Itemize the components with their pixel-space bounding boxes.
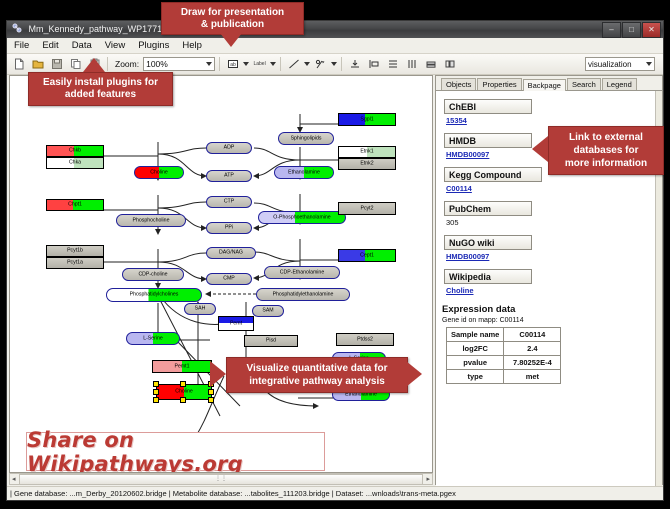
kegg-link[interactable]: C00114: [446, 184, 654, 193]
node-label: Choline: [157, 389, 211, 394]
callout-draw-line2: & publication: [181, 19, 284, 31]
zoom-value: 100%: [146, 59, 168, 69]
callout-quant-left-arrow-icon: [210, 361, 226, 387]
node-label: SAM: [253, 308, 283, 313]
callout-links-line3: more information: [565, 157, 647, 170]
stack-icon[interactable]: [422, 56, 439, 73]
gene-box-etnk1[interactable]: Etnk1: [338, 146, 396, 158]
gene-label: Etnk2: [339, 161, 395, 166]
label-dropdown[interactable]: [270, 62, 276, 66]
row-label: log2FC: [447, 342, 504, 356]
callout-draw-line1: Draw for presentation: [181, 7, 284, 19]
node-phosphatidylcholine[interactable]: Phosphatidylcholines: [106, 288, 202, 302]
tab-search[interactable]: Search: [567, 78, 601, 90]
selection-handle-e[interactable]: [208, 389, 214, 395]
node-ppi[interactable]: PPi: [206, 222, 252, 234]
visualization-value: visualization: [588, 60, 632, 69]
node-label: SAH: [185, 306, 215, 311]
close-button[interactable]: ✕: [642, 22, 661, 38]
gene-id-line: Gene id on mapp: C00114: [442, 317, 654, 324]
selection-handle-s[interactable]: [180, 397, 186, 403]
gene-label: Chpt1: [47, 202, 103, 207]
visualization-select[interactable]: visualization: [585, 57, 655, 71]
chebi-link[interactable]: 15354: [446, 116, 654, 125]
callout-plugins-line1: Easily install plugins for: [43, 77, 158, 89]
gene-label: Pemt1: [153, 364, 211, 369]
selection-handle-w[interactable]: [153, 389, 159, 395]
callout-links-line1: Link to external: [565, 131, 647, 144]
pubchem-value: 305: [446, 218, 654, 227]
gene-label: Pcyt2: [339, 206, 395, 211]
gene-box-etnk2[interactable]: Etnk2: [338, 158, 396, 170]
menu-item-file[interactable]: File: [11, 39, 32, 52]
callout-links-arrow-icon: [532, 136, 548, 162]
gene-label: Chkb: [47, 148, 103, 153]
toolbar-separator-4: [341, 57, 342, 71]
gene-label: Sgpl1: [339, 117, 395, 122]
callout-plugins-arrow-icon: [83, 58, 105, 72]
gene-box-chpt1[interactable]: Chpt1: [46, 199, 104, 211]
gene-box-chkb[interactable]: Chkb: [46, 145, 104, 157]
align-top-icon[interactable]: [346, 56, 363, 73]
node-label: CDP-choline: [123, 272, 183, 277]
gene-label: Pcyt1b: [47, 248, 103, 253]
save-icon[interactable]: [48, 56, 65, 73]
chevron-down-icon: [270, 62, 276, 66]
open-folder-icon[interactable]: [29, 56, 46, 73]
node-label: Choline: [135, 170, 183, 175]
gene-label: Cept1: [339, 253, 395, 258]
node-label: Ethanolamine: [275, 170, 333, 175]
gene-box-pemt[interactable]: Pemt: [218, 316, 254, 331]
node-label: CTP: [207, 199, 251, 204]
chevron-down-icon: [331, 62, 337, 66]
selection-handle-n[interactable]: [180, 381, 186, 387]
gene-box-cept1[interactable]: Cept1: [338, 249, 396, 262]
node-ctp[interactable]: CTP: [206, 196, 252, 208]
row-value: 7.80252E-4: [504, 356, 561, 370]
chevron-down-icon: [206, 62, 212, 66]
copy-icon[interactable]: [67, 56, 84, 73]
new-file-icon[interactable]: [10, 56, 27, 73]
tab-backpage[interactable]: Backpage: [523, 79, 566, 91]
gene-box-pemt1[interactable]: Pemt1: [152, 360, 212, 373]
table-row: pvalue 7.80252E-4: [447, 356, 561, 370]
callout-quant-line1: Visualize quantitative data for: [247, 362, 388, 375]
selection-handle-nw[interactable]: [153, 381, 159, 387]
node-label: PPi: [207, 225, 251, 230]
callout-links: Link to external databases for more info…: [548, 126, 664, 175]
title-bar: Mm_Kennedy_pathway_WP1771_45176.gpml – □…: [7, 21, 663, 38]
node-label: Phosphatidylcholines: [107, 292, 201, 297]
gene-label: Chka: [47, 160, 103, 165]
node-phosphocholine[interactable]: Phosphocholine: [116, 214, 186, 227]
callout-plugins-line2: added features: [43, 89, 158, 101]
window-buttons: – □ ✕: [602, 22, 661, 38]
node-dag-nag[interactable]: DAG/NAG: [206, 247, 256, 259]
row-label: Sample name: [447, 328, 504, 342]
label-icon[interactable]: Label: [251, 56, 268, 73]
menu-bar: File Edit Data View Plugins Help: [7, 38, 663, 54]
node-ethanolamine[interactable]: Ethanolamine: [274, 166, 334, 179]
zoom-select[interactable]: 100%: [143, 57, 215, 71]
zoom-label: Zoom:: [115, 59, 139, 69]
node-phosphatidylethanolamine[interactable]: Phosphatidylethanolamine: [256, 288, 350, 301]
gene-label: Pemt: [219, 321, 253, 326]
node-label: L-Serine: [127, 336, 179, 341]
status-bar: | Gene database: ...m_Derby_20120602.bri…: [7, 486, 663, 500]
section-header-hmdb: HMDB: [444, 133, 532, 148]
toolbar-separator-1: [107, 57, 108, 71]
gene-box-ptdss2[interactable]: Ptdss2: [336, 333, 394, 346]
interaction-dropdown[interactable]: [331, 62, 337, 66]
callout-draw-arrow-icon: [220, 33, 242, 47]
share-banner-text: Share on Wikipathways.org: [27, 428, 324, 474]
gene-label: Pisd: [245, 338, 297, 343]
datanode-icon[interactable]: ab: [224, 56, 241, 73]
tab-objects[interactable]: Objects: [441, 78, 476, 90]
datanode-dropdown[interactable]: [243, 62, 249, 66]
gene-box-pisd[interactable]: Pisd: [244, 335, 298, 347]
chevron-down-icon: [304, 62, 310, 66]
pathvisio-icon: [12, 22, 22, 32]
menu-item-edit[interactable]: Edit: [39, 39, 61, 52]
callout-quant: Visualize quantitative data for integrat…: [226, 357, 408, 393]
section-header-nugo: NuGO wiki: [444, 235, 532, 250]
section-header-kegg: Kegg Compound: [444, 167, 542, 182]
screenshot-root: Mm_Kennedy_pathway_WP1771_45176.gpml – □…: [0, 0, 670, 509]
nugo-link[interactable]: HMDB00097: [446, 252, 654, 261]
scroll-left-arrow[interactable]: ◂: [10, 475, 18, 483]
node-cdp-ethanolamine[interactable]: CDP-Ethanolamine: [264, 266, 340, 279]
row-value: met: [504, 370, 561, 384]
share-banner: Share on Wikipathways.org: [26, 432, 325, 471]
scroll-right-arrow[interactable]: ▸: [424, 475, 432, 483]
callout-plugins: Easily install plugins for added feature…: [28, 72, 173, 106]
gene-box-sgpl1[interactable]: Sgpl1: [338, 113, 396, 126]
callout-quant-right-arrow-icon: [406, 361, 422, 387]
node-label: CMP: [207, 276, 251, 281]
gene-label: Pcyt1a: [47, 260, 103, 265]
gene-box-chka[interactable]: Chka: [46, 157, 104, 169]
row-label: type: [447, 370, 504, 384]
toolbar-separator-2: [219, 57, 220, 71]
node-l-serine-left[interactable]: L-Serine: [126, 332, 180, 345]
distribute-vertical-icon[interactable]: [384, 56, 401, 73]
gene-box-pcyt2[interactable]: Pcyt2: [338, 202, 396, 215]
maximize-button[interactable]: □: [622, 22, 641, 38]
callout-draw: Draw for presentation & publication: [161, 2, 304, 35]
menu-item-view[interactable]: View: [102, 39, 128, 52]
node-cdp-choline[interactable]: CDP-choline: [122, 268, 184, 281]
gene-box-pcyt1a[interactable]: Pcyt1a: [46, 257, 104, 269]
svg-text:ab: ab: [230, 62, 236, 68]
gene-label: Ptdss2: [337, 337, 393, 342]
table-row: log2FC 2.4: [447, 342, 561, 356]
callout-quant-line2: integrative pathway analysis: [247, 375, 388, 388]
gene-box-pcyt1b[interactable]: Pcyt1b: [46, 245, 104, 257]
side-panel-tabs: Objects Properties Backpage Search Legen…: [436, 76, 662, 91]
node-label: Phosphocholine: [117, 218, 185, 223]
expression-data-title: Expression data: [442, 304, 654, 315]
menu-item-data[interactable]: Data: [69, 39, 95, 52]
node-atp[interactable]: ATP: [206, 170, 252, 182]
wikipedia-link[interactable]: Choline: [446, 286, 654, 295]
node-o-phosphoethanolamine[interactable]: O-Phosphoethanolamine: [258, 211, 346, 224]
selection-handle-se[interactable]: [208, 397, 214, 403]
menu-item-help[interactable]: Help: [179, 39, 205, 52]
row-value: C00114: [504, 328, 561, 342]
node-adp[interactable]: ADP: [206, 142, 252, 154]
distribute-horizontal-icon[interactable]: [403, 56, 420, 73]
callout-links-line2: databases for: [565, 144, 647, 157]
node-label: CDP-Ethanolamine: [265, 270, 339, 275]
align-left-icon[interactable]: [365, 56, 382, 73]
menu-item-plugins[interactable]: Plugins: [135, 39, 172, 52]
section-header-pubchem: PubChem: [444, 201, 532, 216]
toolbar-separator-3: [280, 57, 281, 71]
section-header-chebi: ChEBI: [444, 99, 532, 114]
tab-properties[interactable]: Properties: [477, 78, 521, 90]
chevron-down-icon: [646, 62, 652, 66]
node-label: ADP: [207, 145, 251, 150]
node-sam[interactable]: SAM: [252, 305, 284, 317]
canvas-hscrollbar[interactable]: ◂ ⋮⋮ ▸: [9, 473, 433, 485]
node-label: Sphingolipids: [279, 136, 333, 141]
node-sah[interactable]: SAH: [184, 303, 216, 315]
node-sphingolipids[interactable]: Sphingolipids: [278, 132, 334, 145]
minimize-button[interactable]: –: [602, 22, 621, 38]
node-choline-top[interactable]: Choline: [134, 166, 184, 179]
row-label: pvalue: [447, 356, 504, 370]
group-icon[interactable]: [441, 56, 458, 73]
gene-label: Etnk1: [339, 149, 395, 154]
interaction-icon[interactable]: [312, 56, 329, 73]
table-row: type met: [447, 370, 561, 384]
node-cmp[interactable]: CMP: [206, 273, 252, 285]
pathway-canvas[interactable]: Sphingolipids Ethanolamine O-Phosphoetha…: [9, 75, 433, 473]
scroll-thumb[interactable]: ⋮⋮: [19, 474, 424, 485]
selection-handle-sw[interactable]: [153, 397, 159, 403]
expression-table: Sample name C00114 log2FC 2.4 pvalue 7.8…: [446, 327, 561, 384]
table-row: Sample name C00114: [447, 328, 561, 342]
tab-legend[interactable]: Legend: [602, 78, 637, 90]
node-label: O-Phosphoethanolamine: [259, 215, 345, 220]
chevron-down-icon: [243, 62, 249, 66]
line-icon[interactable]: [285, 56, 302, 73]
node-label: ATP: [207, 173, 251, 178]
node-label: Phosphatidylethanolamine: [257, 292, 349, 297]
row-value: 2.4: [504, 342, 561, 356]
node-label: DAG/NAG: [207, 250, 255, 255]
line-dropdown[interactable]: [304, 62, 310, 66]
section-header-wikipedia: Wikipedia: [444, 269, 532, 284]
